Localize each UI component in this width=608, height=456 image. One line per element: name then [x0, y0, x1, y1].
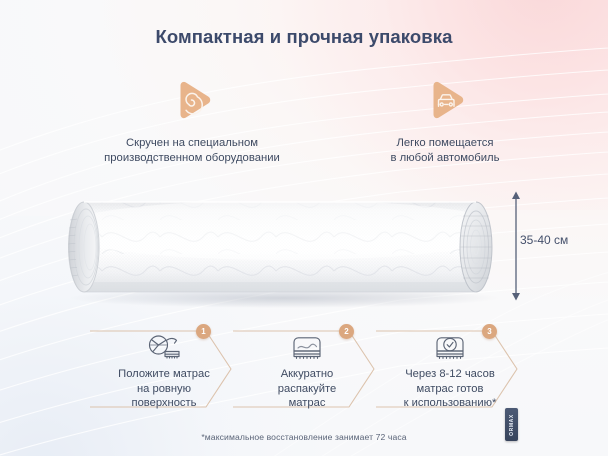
step-card-3[interactable]: 3 Через 8-12 часов матрас готов к исполь… [374, 325, 526, 413]
steps-row: 1 Положите матрас на ровную поверхность [88, 325, 520, 413]
spiral-roll-icon [167, 78, 217, 128]
feature-caption: Скручен на специальном производственном … [62, 136, 322, 166]
step-text: Через 8-12 часов матрас готов к использо… [382, 367, 518, 411]
step-number-badge: 1 [196, 324, 211, 339]
step-number-badge: 3 [482, 324, 497, 339]
rolled-mattress-image: ORMAX [44, 186, 514, 308]
step-card-2[interactable]: 2 Аккуратно распакуйте матрас [231, 325, 383, 413]
unroll-mattress-icon [88, 331, 240, 363]
footnote: *максимальное восстановление занимает 72… [0, 432, 608, 442]
step-text: Аккуратно распакуйте матрас [239, 367, 375, 411]
dimension-label: 35-40 см [520, 233, 568, 247]
feature-caption: Легко помещается в любой автомобиль [330, 136, 560, 166]
step-number-badge: 2 [339, 324, 354, 339]
infographic-canvas: Компактная и прочная упаковка Скручен на… [0, 0, 608, 456]
step-card-1[interactable]: 1 Положите матрас на ровную поверхность [88, 325, 240, 413]
feature-item-rolled: Скручен на специальном производственном … [62, 78, 322, 166]
feature-item-car: Легко помещается в любой автомобиль [330, 78, 560, 166]
mattress-check-icon [374, 331, 526, 363]
car-icon [420, 78, 470, 128]
mattress-icon [231, 331, 383, 363]
step-text: Положите матрас на ровную поверхность [96, 367, 232, 411]
page-title: Компактная и прочная упаковка [0, 26, 608, 48]
